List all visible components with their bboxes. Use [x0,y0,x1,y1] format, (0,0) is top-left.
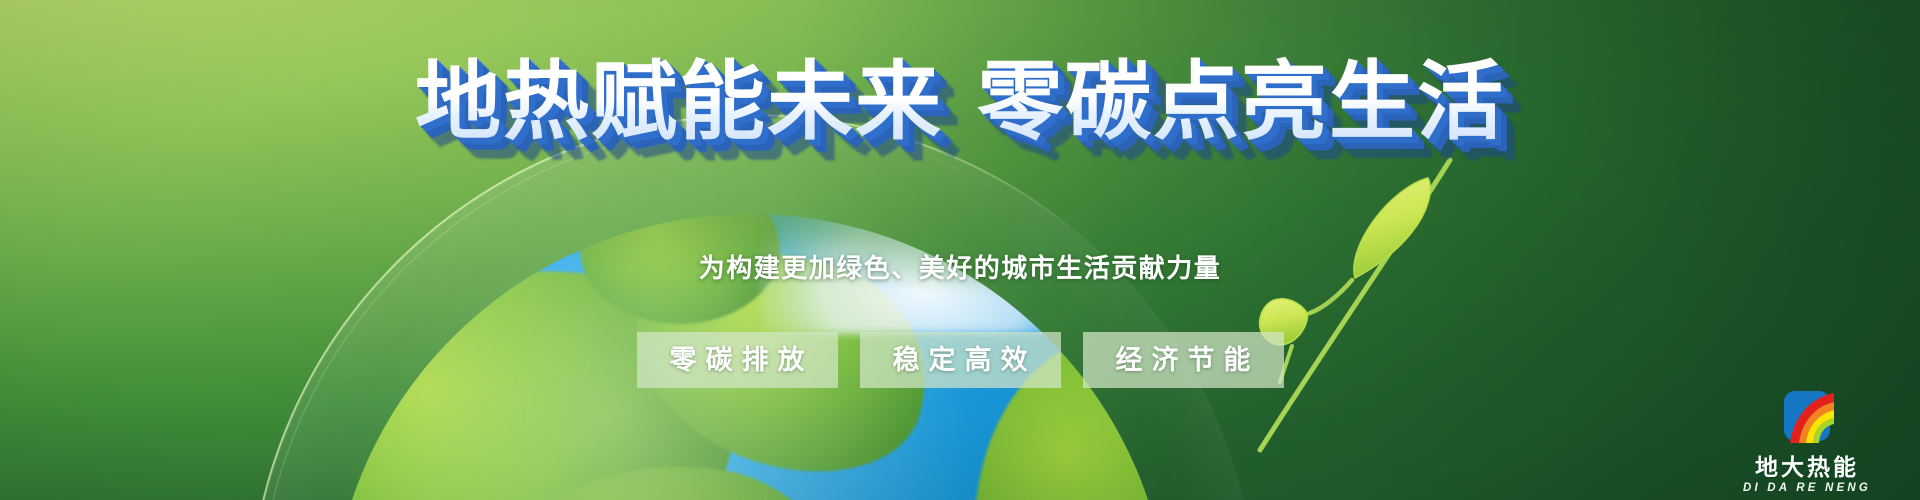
page-subtitle: 为构建更加绿色、美好的城市生活贡献力量 [0,248,1920,285]
headline-part-1: 地热赋能未来 [415,54,943,150]
brand-logo[interactable]: 地大热能 DI DA RE NENG [1722,389,1892,494]
page-title: 地热赋能未来零碳点亮生活 [0,56,1920,149]
feature-tag-zero-carbon[interactable]: 零碳排放 [637,332,838,388]
brand-name-cn: 地大热能 [1722,455,1892,480]
feature-tag-list: 零碳排放 稳定高效 经济节能 [0,332,1920,388]
headline-part-2: 零碳点亮生活 [977,54,1505,150]
feature-tag-economical[interactable]: 经济节能 [1083,332,1284,388]
promotional-banner: 地热赋能未来零碳点亮生活 为构建更加绿色、美好的城市生活贡献力量 零碳排放 稳定… [0,0,1920,500]
rainbow-square-logo-icon [1772,389,1842,451]
brand-name-en: DI DA RE NENG [1722,482,1892,494]
feature-tag-stable-efficient[interactable]: 稳定高效 [860,332,1061,388]
